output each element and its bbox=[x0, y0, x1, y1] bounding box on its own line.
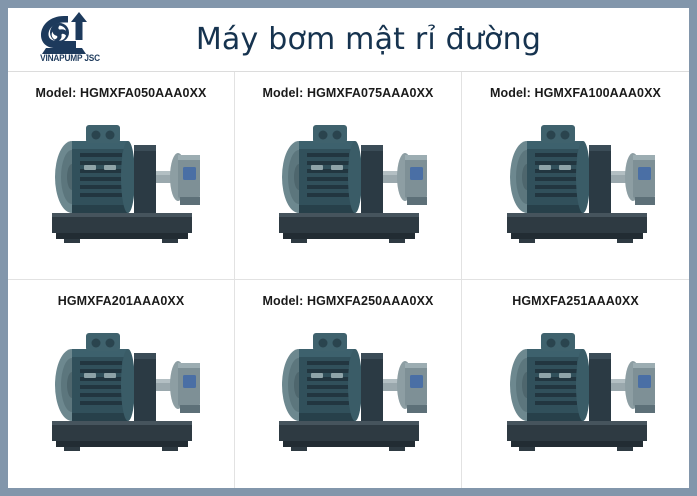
product-image bbox=[462, 100, 689, 279]
molasses-pump-illustration bbox=[28, 111, 214, 251]
product-image bbox=[462, 308, 689, 488]
product-model-label: Model: HGMXFA075AAA0XX bbox=[263, 86, 434, 100]
product-model-label: Model: HGMXFA250AAA0XX bbox=[263, 294, 434, 308]
molasses-pump-illustration bbox=[255, 319, 441, 459]
molasses-pump-illustration bbox=[28, 319, 214, 459]
page-frame: VINAPUMP JSC Máy bơm mật rỉ đường Model:… bbox=[0, 0, 697, 496]
product-cell[interactable]: HGMXFA251AAA0XX bbox=[462, 280, 689, 488]
page-header: VINAPUMP JSC Máy bơm mật rỉ đường bbox=[8, 8, 689, 72]
product-grid: Model: HGMXFA050AAA0XX bbox=[8, 72, 689, 488]
product-image bbox=[235, 100, 461, 279]
product-image bbox=[8, 308, 234, 488]
product-model-label: HGMXFA201AAA0XX bbox=[58, 294, 185, 308]
content-sheet: VINAPUMP JSC Máy bơm mật rỉ đường Model:… bbox=[8, 8, 689, 488]
product-cell[interactable]: Model: HGMXFA250AAA0XX bbox=[235, 280, 462, 488]
product-model-label: HGMXFA251AAA0XX bbox=[512, 294, 639, 308]
molasses-pump-illustration bbox=[483, 111, 669, 251]
molasses-pump-illustration bbox=[483, 319, 669, 459]
product-cell[interactable]: Model: HGMXFA050AAA0XX bbox=[8, 72, 235, 280]
product-image bbox=[8, 100, 234, 279]
page-title: Máy bơm mật rỉ đường bbox=[8, 8, 689, 72]
product-cell[interactable]: Model: HGMXFA075AAA0XX bbox=[235, 72, 462, 280]
product-model-label: Model: HGMXFA100AAA0XX bbox=[490, 86, 661, 100]
product-model-label: Model: HGMXFA050AAA0XX bbox=[36, 86, 207, 100]
product-image bbox=[235, 308, 461, 488]
product-cell[interactable]: HGMXFA201AAA0XX bbox=[8, 280, 235, 488]
product-cell[interactable]: Model: HGMXFA100AAA0XX bbox=[462, 72, 689, 280]
molasses-pump-illustration bbox=[255, 111, 441, 251]
